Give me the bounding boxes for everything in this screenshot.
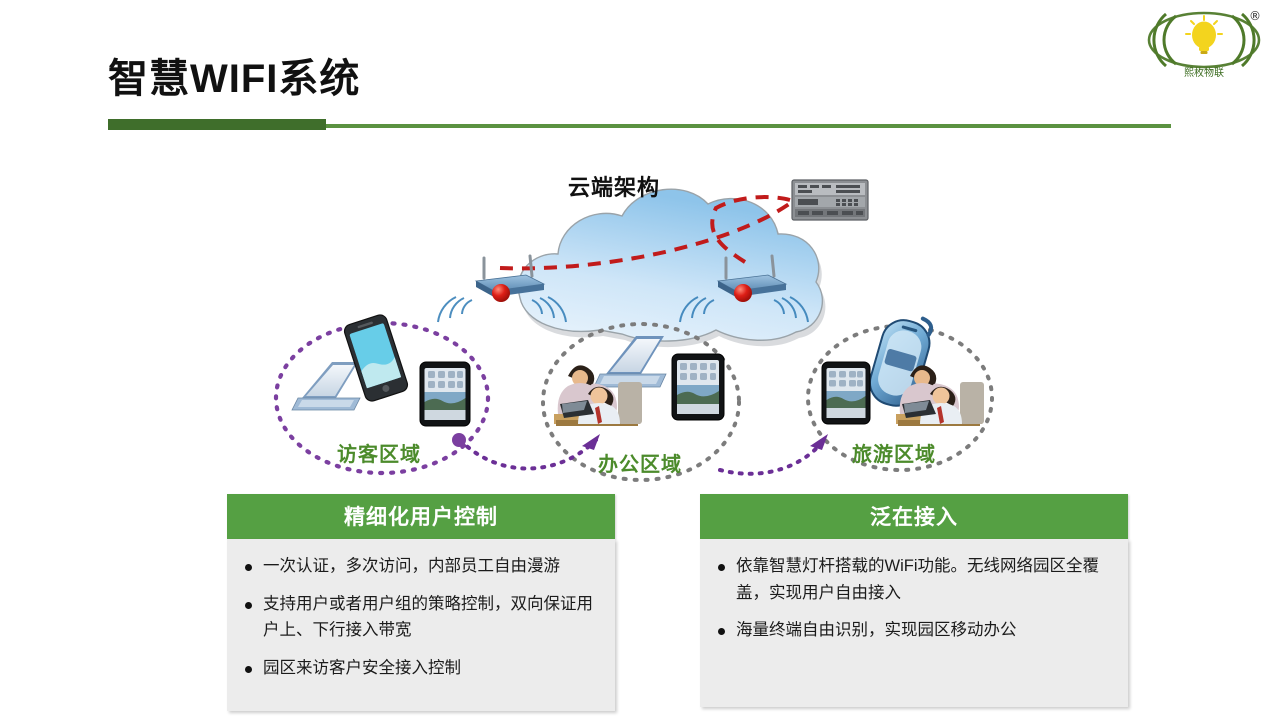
slide-root: 智慧WIFI系统: [0, 0, 1280, 720]
list-item: 支持用户或者用户组的策略控制，双向保证用户上、下行接入带宽: [243, 591, 599, 644]
zone-label-visitor: 访客区域: [337, 438, 421, 467]
router-led-icon: [734, 284, 752, 302]
lightbulb-icon: [1186, 16, 1222, 54]
roaming-path-1: [460, 440, 596, 469]
panel-user-control-title: 精细化用户控制: [227, 494, 615, 539]
bullet-list: 一次认证，多次访问，内部员工自由漫游 支持用户或者用户组的策略控制，双向保证用户…: [243, 553, 599, 682]
wifi-waves-left: [438, 297, 472, 322]
zone-label-office: 办公区域: [598, 448, 682, 477]
registered-mark-icon: ®: [1249, 9, 1261, 23]
panel-ubiquitous-access-title: 泛在接入: [700, 494, 1128, 539]
roaming-origin-dot: [452, 433, 466, 447]
list-item: 园区来访客户安全接入控制: [243, 655, 599, 682]
panel-user-control-body: 一次认证，多次访问，内部员工自由漫游 支持用户或者用户组的策略控制，双向保证用户…: [227, 539, 615, 711]
roaming-path-2: [720, 440, 824, 474]
title-underline-thick: [108, 119, 326, 130]
panel-user-control: 精细化用户控制 一次认证，多次访问，内部员工自由漫游 支持用户或者用户组的策略控…: [227, 494, 615, 711]
brand-logo: 熙枚物联 ®: [1143, 4, 1265, 82]
server-rack-icon: [792, 180, 868, 220]
panel-ubiquitous-access-body: 依靠智慧灯杆搭载的WiFi功能。无线网络园区全覆盖，实现用户自由接入 海量终端自…: [700, 539, 1128, 707]
panel-ubiquitous-access: 泛在接入 依靠智慧灯杆搭载的WiFi功能。无线网络园区全覆盖，实现用户自由接入 …: [700, 494, 1128, 707]
network-diagram: 云端架构 访客区域 办公区域 旅游区域: [0, 140, 1280, 500]
zone-label-tourism: 旅游区域: [852, 438, 936, 467]
device-laptop-zone2: [594, 336, 666, 387]
list-item: 海量终端自由识别，实现园区移动办公: [716, 617, 1112, 644]
bullet-list: 依靠智慧灯杆搭载的WiFi功能。无线网络园区全覆盖，实现用户自由接入 海量终端自…: [716, 553, 1112, 644]
cloud-shape: [518, 189, 825, 347]
device-smartphone-zone1: [343, 313, 410, 403]
list-item: 一次认证，多次访问，内部员工自由漫游: [243, 553, 599, 580]
logo-icon: 熙枚物联 ®: [1143, 4, 1265, 82]
router-led-icon: [492, 284, 510, 302]
page-title: 智慧WIFI系统: [108, 57, 360, 101]
device-tablet-zone3: [822, 362, 870, 424]
list-item: 依靠智慧灯杆搭载的WiFi功能。无线网络园区全覆盖，实现用户自由接入: [716, 553, 1112, 606]
device-tablet-zone1: [420, 362, 470, 426]
cloud-label: 云端架构: [568, 170, 660, 202]
device-tablet-zone2: [672, 354, 724, 420]
logo-brand-text: 熙枚物联: [1184, 66, 1224, 79]
device-laptop-zone1: [292, 362, 360, 410]
